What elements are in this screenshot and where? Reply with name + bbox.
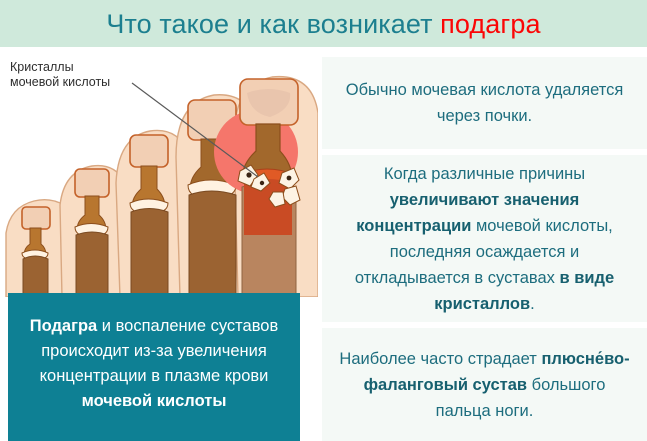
teal-seg-0: Подагра bbox=[30, 317, 98, 335]
card2-seg-4: . bbox=[530, 295, 535, 313]
card3-seg-0: Наиболее часто страдает bbox=[339, 350, 541, 368]
card1-seg-0: Обычно мочевая кислота удаляется через п… bbox=[346, 81, 624, 125]
info-card-concentration-text: Когда различные причины увеличивают знач… bbox=[336, 161, 633, 317]
teal-callout-text: Подагра и воспаление суставов происходит… bbox=[18, 314, 290, 414]
toe-3-bones bbox=[130, 135, 168, 297]
info-card-concentration: Когда различные причины увеличивают знач… bbox=[322, 155, 647, 322]
info-card-joint: Наиболее часто страдает плюсне́во-фаланг… bbox=[322, 328, 647, 441]
toe-1-bones bbox=[238, 79, 300, 297]
info-card-kidneys: Обычно мочевая кислота удаляется через п… bbox=[322, 57, 647, 149]
infographic-root: Что такое и как возникает подагра bbox=[0, 0, 647, 441]
info-card-joint-text: Наиболее часто страдает плюсне́во-фаланг… bbox=[336, 346, 633, 424]
info-card-kidneys-text: Обычно мочевая кислота удаляется через п… bbox=[336, 77, 633, 129]
crystal-label: Кристаллы мочевой кислоты bbox=[10, 60, 110, 90]
teal-seg-2: мочевой кислоты bbox=[82, 392, 227, 410]
toe-5-bones bbox=[22, 207, 50, 297]
teal-callout-box: Подагра и воспаление суставов происходит… bbox=[8, 293, 300, 441]
card2-seg-0: Когда различные причины bbox=[384, 165, 585, 183]
toe-4-bones bbox=[75, 169, 109, 297]
info-card-column: Обычно мочевая кислота удаляется через п… bbox=[322, 0, 647, 441]
